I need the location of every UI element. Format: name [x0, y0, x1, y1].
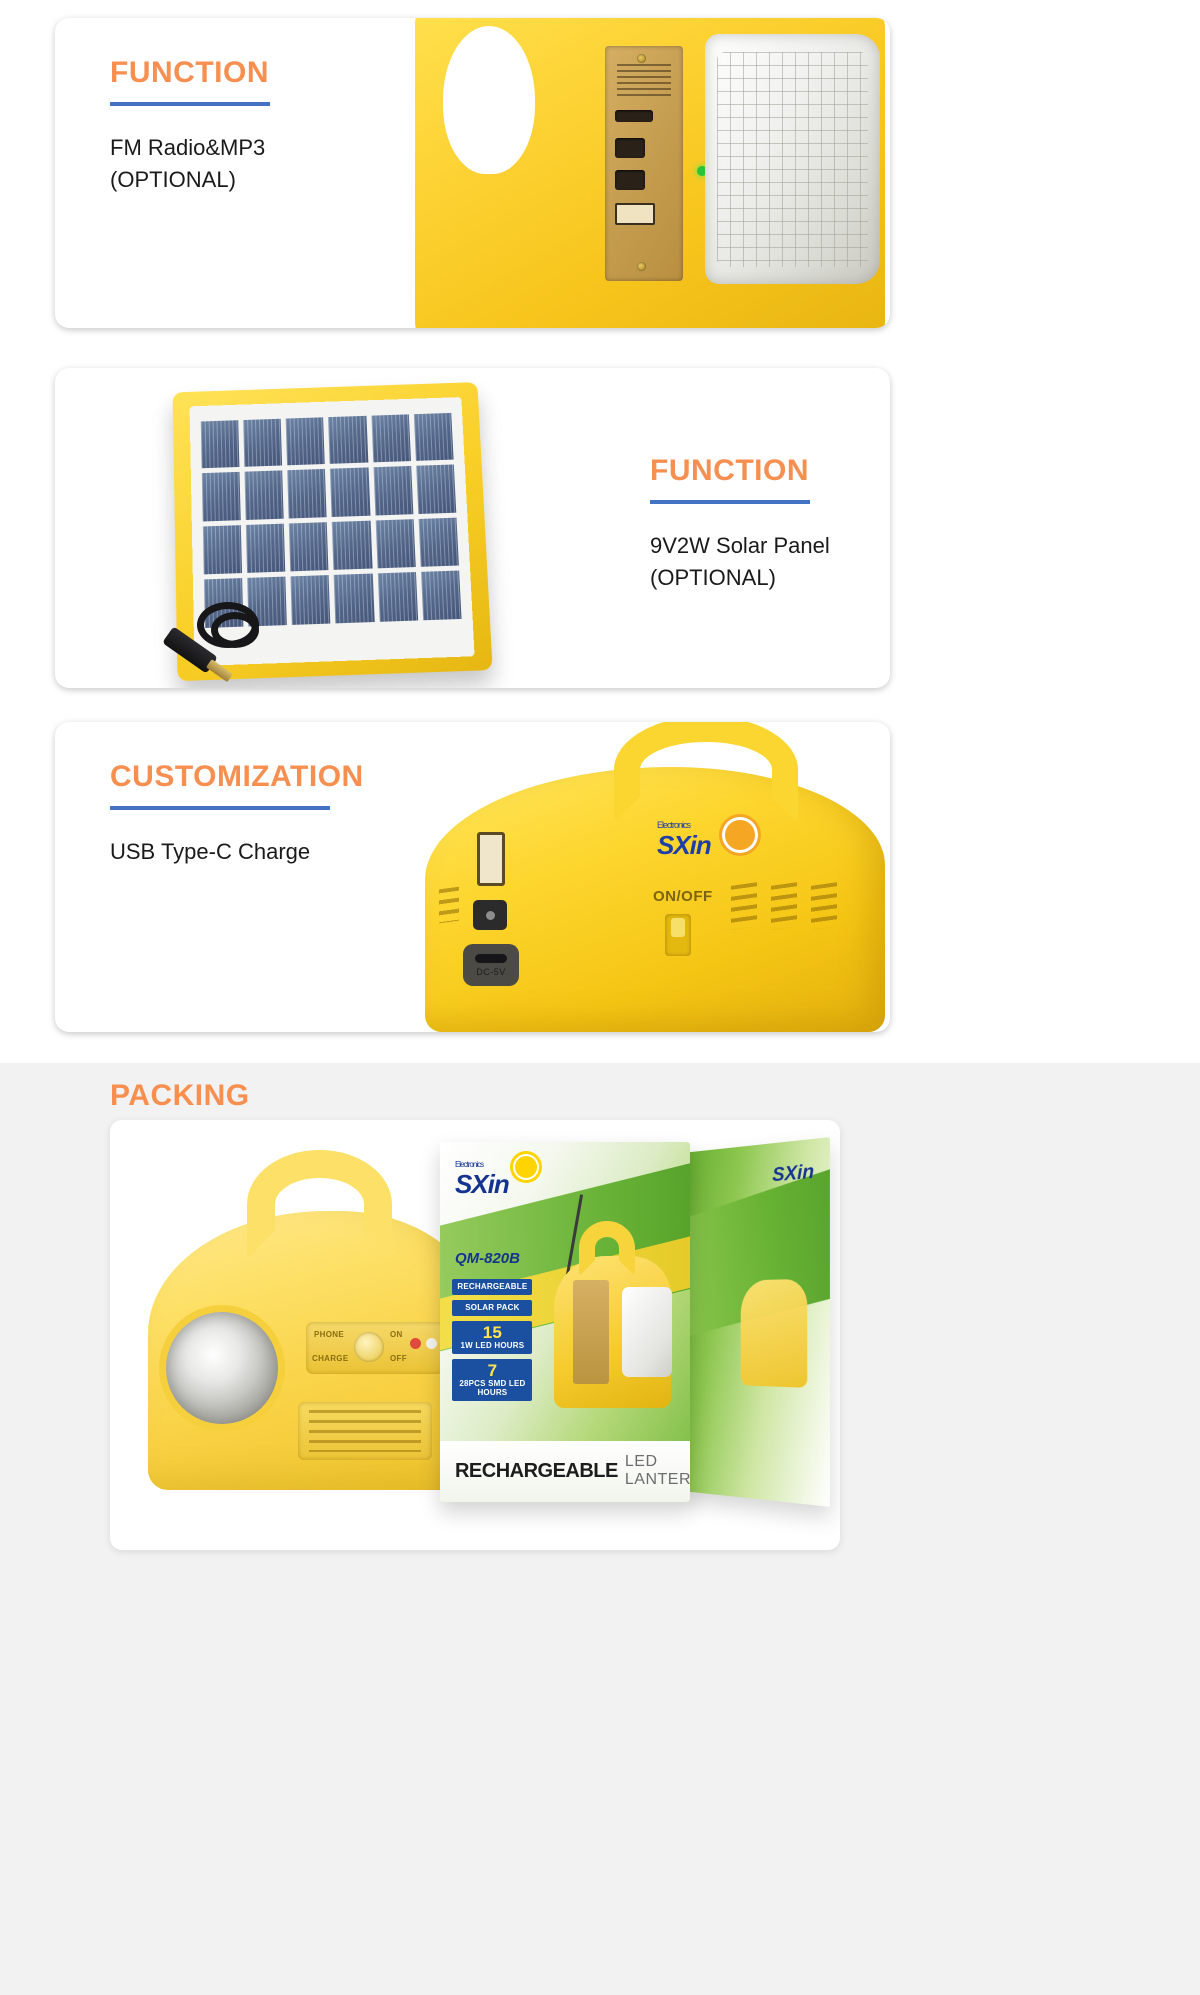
footer-light-text: LED LANTERN — [625, 1453, 690, 1489]
lantern-sd-card-slot — [615, 110, 653, 122]
retail-box-side-brand: SXin — [772, 1161, 814, 1187]
heading-underline — [110, 806, 330, 810]
solar-cell — [377, 572, 417, 622]
brand-logo-sub: Electronics — [657, 820, 711, 830]
retail-box-side-product-thumb — [741, 1278, 808, 1388]
retail-box-side-panel: SXin — [682, 1137, 830, 1507]
card-function-solar: FUNCTION 9V2W Solar Panel (OPTIONAL) — [55, 368, 890, 688]
card-function-solar-body: 9V2W Solar Panel (OPTIONAL) — [650, 530, 890, 594]
solar-cell — [245, 470, 284, 519]
retail-box-product-photo — [542, 1221, 682, 1415]
lantern-usb-port — [615, 203, 655, 225]
card-function-solar-heading: FUNCTION — [650, 456, 890, 486]
card-function-radio-heading: FUNCTION — [110, 58, 440, 88]
product-detail-page: FUNCTION FM Radio&MP3 (OPTIONAL) FUNCTIO… — [0, 0, 1200, 1995]
solar-cell — [289, 521, 329, 571]
packing-title: PACKING — [110, 1079, 250, 1113]
heading-underline — [650, 500, 810, 504]
retail-box-image: SXin Electronics SXin QM-820B RECHARGEAB… — [440, 1142, 830, 1502]
power-switch — [665, 914, 691, 956]
type-c-slot-icon — [475, 954, 506, 963]
vent-slots-left — [439, 887, 459, 924]
badge-label: SOLAR PACK — [465, 1303, 519, 1312]
torch-handle — [247, 1150, 392, 1259]
torch-label-charge: CHARGE — [312, 1354, 348, 1363]
card-function-radio-body: FM Radio&MP3 (OPTIONAL) — [110, 132, 440, 196]
solar-cell — [286, 416, 325, 464]
lantern-front-image: PHONE CHARGE ON OFF — [148, 1150, 478, 1490]
badge-smd-led-hours-7: 7 28PCS SMD LED HOURS — [452, 1359, 532, 1401]
retail-box-model: QM-820B — [455, 1250, 520, 1267]
badge-label: 28PCS SMD LED HOURS — [459, 1379, 525, 1397]
solar-cell — [202, 471, 241, 520]
retail-box-brand: Electronics SXin — [455, 1160, 509, 1200]
badge-solar-pack: SOLAR PACK — [452, 1300, 532, 1316]
solar-cell — [201, 419, 240, 467]
usb-a-port — [477, 832, 505, 886]
solar-cell — [334, 573, 374, 623]
on-off-label: ON/OFF — [653, 888, 713, 905]
lantern-led-grid — [717, 52, 868, 267]
packing-image-card: PHONE CHARGE ON OFF SXin Electronics SXi… — [110, 1120, 840, 1550]
dc-input-jack — [473, 900, 507, 930]
usb-type-c-port: DC-5V — [463, 944, 519, 986]
badge-big-number: 7 — [456, 1362, 528, 1379]
box-product-lamp-face — [622, 1287, 672, 1376]
badge-label: RECHARGEABLE — [457, 1282, 527, 1291]
retail-box-feature-badges: RECHARGEABLE SOLAR PACK 15 1W LED HOURS … — [452, 1279, 532, 1406]
badge-rechargeable: RECHARGEABLE — [452, 1279, 532, 1295]
torch-label-on: ON — [390, 1330, 403, 1339]
badge-led-hours-15: 15 1W LED HOURS — [452, 1321, 532, 1354]
vent-slots-right-1 — [731, 882, 757, 930]
type-c-port-label: DC-5V — [476, 967, 506, 977]
card-customization-text: CUSTOMIZATION USB Type-C Charge — [110, 762, 440, 868]
solar-cell — [414, 412, 454, 460]
lantern-handle — [614, 722, 798, 823]
retail-box-brand-name: SXin — [455, 1169, 509, 1199]
lantern-screw-top — [637, 54, 646, 63]
torch-indicator-led-white — [426, 1338, 437, 1349]
sun-icon — [725, 820, 755, 850]
badge-big-number: 15 — [456, 1324, 528, 1341]
retail-box-brand-sub: Electronics — [455, 1160, 509, 1169]
torch-mode-knob — [354, 1332, 384, 1362]
lantern-port-view-image — [415, 18, 885, 328]
torch-vent-grille — [298, 1402, 432, 1460]
solar-cell — [416, 464, 456, 513]
solar-cell — [203, 524, 242, 574]
solar-cell — [243, 418, 282, 466]
brand-logo: Electronics SXin — [657, 820, 711, 861]
retail-box-footer: RECHARGEABLE LED LANTERN — [440, 1441, 690, 1502]
torch-label-off: OFF — [390, 1354, 407, 1363]
box-product-control-panel — [573, 1280, 609, 1385]
solar-cell — [291, 575, 331, 625]
lantern-dc-port — [615, 138, 645, 158]
solar-cell — [328, 415, 367, 463]
retail-box-front-panel: Electronics SXin QM-820B RECHARGEABLE SO… — [440, 1142, 690, 1502]
torch-label-phone: PHONE — [314, 1330, 344, 1339]
footer-bold-text: RECHARGEABLE — [455, 1460, 618, 1483]
card-customization-body: USB Type-C Charge — [110, 836, 440, 868]
solar-cell — [421, 570, 462, 620]
solar-panel-image — [175, 384, 485, 674]
vent-slots-right-3 — [811, 882, 837, 930]
solar-cell — [375, 518, 415, 568]
sun-icon — [515, 1156, 537, 1178]
lantern-aux-port — [615, 170, 645, 190]
card-function-radio: FUNCTION FM Radio&MP3 (OPTIONAL) — [55, 18, 890, 328]
torch-reflector-lens — [166, 1312, 278, 1424]
solar-cell — [373, 466, 413, 515]
card-customization-heading: CUSTOMIZATION — [110, 762, 440, 792]
badge-label: 1W LED HOURS — [461, 1341, 525, 1350]
card-customization-usb: CUSTOMIZATION USB Type-C Charge DC-5V El… — [55, 722, 890, 1032]
heading-underline — [110, 102, 270, 106]
lantern-handle-cutout — [443, 26, 535, 174]
lantern-led-lamp-face — [705, 34, 880, 284]
card-function-solar-text: FUNCTION 9V2W Solar Panel (OPTIONAL) — [650, 456, 890, 594]
solar-cell — [371, 414, 411, 462]
lantern-speaker-grille — [617, 64, 671, 98]
vent-slots-right-2 — [771, 882, 797, 930]
brand-logo-name: SXin — [657, 830, 711, 860]
box-product-handle — [579, 1221, 635, 1275]
torch-vent-lines — [309, 1410, 422, 1452]
card-function-radio-text: FUNCTION FM Radio&MP3 (OPTIONAL) — [110, 58, 440, 196]
solar-cell — [288, 468, 328, 517]
solar-cell — [246, 523, 286, 573]
solar-cell — [332, 520, 372, 570]
lantern-screw-bottom — [637, 262, 646, 271]
torch-indicator-led-red — [410, 1338, 421, 1349]
lantern-rear-usb-image: DC-5V Electronics SXin ON/OFF — [425, 722, 885, 1032]
solar-cell-grid — [201, 412, 462, 628]
solar-cell — [330, 467, 370, 516]
solar-cell — [418, 517, 458, 567]
solar-dc-cable — [211, 612, 259, 648]
